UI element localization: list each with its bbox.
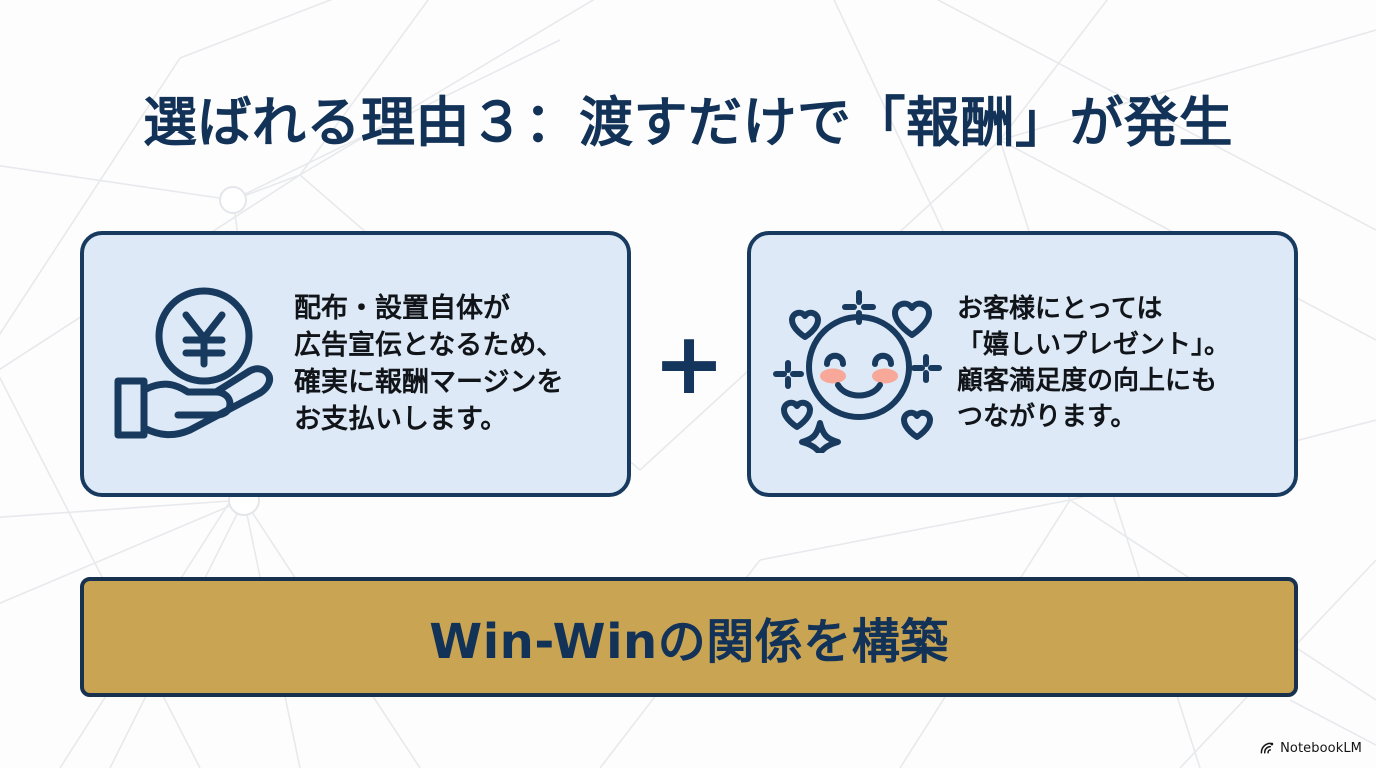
page-title: 選ばれる理由３：渡すだけで「報酬」が発生 — [0, 78, 1376, 157]
plus-sign: + — [631, 231, 747, 497]
card-line: お客様にとっては — [957, 292, 1294, 328]
notebooklm-logo-icon — [1260, 741, 1275, 756]
yen-coin-in-hand-icon — [84, 280, 294, 448]
benefit-card-text-distribution-reward: 配布・設置自体が 広告宣伝となるため、 確実に報酬マージンを お支払いします。 — [294, 290, 627, 439]
conclusion-banner-text: Win-Winの関係を構築 — [429, 602, 948, 672]
slide-canvas: 選ばれる理由３：渡すだけで「報酬」が発生 配布・設置自体が 広告宣伝となるため、… — [0, 0, 1376, 768]
benefit-card-distribution-reward: 配布・設置自体が 広告宣伝となるため、 確実に報酬マージンを お支払いします。 — [80, 231, 631, 497]
card-line: 配布・設置自体が — [294, 290, 627, 327]
benefit-card-text-customer-satisfaction: お客様にとっては 「嬉しいプレゼント」。 顧客満足度の向上にも つながります。 — [957, 292, 1294, 436]
notebooklm-watermark: NotebookLM — [1260, 741, 1362, 756]
card-line: 「嬉しいプレゼント」。 — [957, 328, 1294, 364]
card-line: 広告宣伝となるため、 — [294, 327, 627, 364]
card-line: 確実に報酬マージンを — [294, 364, 627, 401]
card-line: 顧客満足度の向上にも — [957, 364, 1294, 400]
card-line: つながります。 — [957, 400, 1294, 436]
notebooklm-watermark-label: NotebookLM — [1280, 741, 1362, 756]
conclusion-banner: Win-Winの関係を構築 — [80, 577, 1298, 697]
smiling-face-with-hearts-icon — [751, 275, 957, 453]
card-line: お支払いします。 — [294, 401, 627, 438]
benefit-card-customer-satisfaction: お客様にとっては 「嬉しいプレゼント」。 顧客満足度の向上にも つながります。 — [747, 231, 1298, 497]
